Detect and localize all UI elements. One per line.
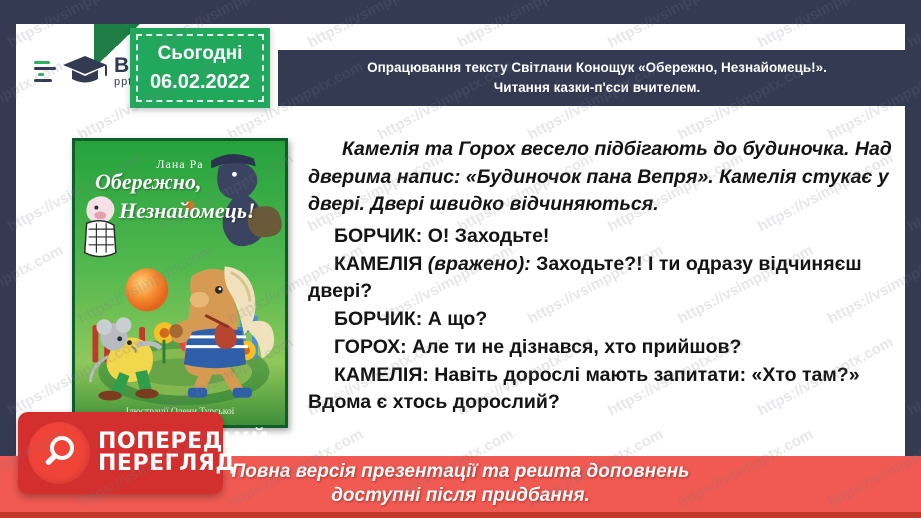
cover-title-line-2: Незнайомець! [89,198,271,223]
slide-title-line-2: Читання казки-п'єси вчителем. [494,78,700,98]
logo-speed-lines-icon [34,61,56,82]
slide-title-line-1: Опрацювання тексту Світлани Конощук «Обе… [367,58,827,78]
magnifier-icon [28,422,90,484]
slide-frame: п с [0,0,921,518]
dialogue-text: А що? [422,308,487,330]
preview-badge[interactable]: ПОПЕРЕДНІЙ ПЕРЕГЛЯД [18,412,223,494]
dialogue-line: КАМЕЛІЯ (вражено): Заходьте?! І ти одраз… [308,251,905,306]
preview-line-1: ПОПЕРЕДНІЙ [98,431,269,453]
dialogue-speaker: КАМЕЛІЯ: [334,364,429,386]
book-cover-image: Лана Ра Обережно, Незнайомець! Ілюстраці… [72,138,288,428]
graduation-cap-icon [62,54,108,88]
dialogue-line: БОРЧИК: А що? [308,306,905,334]
dialogue-stage: (вражено): [422,253,530,275]
preview-line-2: ПЕРЕГЛЯД [98,453,269,475]
badge-date-value: 06.02.2022 [150,71,250,94]
lesson-text-block: Камелія та Горох весело підбігають до бу… [308,136,905,417]
dialogue-text: О! Заходьте! [422,225,549,247]
banner-line-1: Повна версія презентації та решта доповн… [232,460,690,484]
dialogue-text: Але ти не дізнався, хто прийшов? [407,336,742,358]
today-date-badge: Сьогодні 06.02.2022 [130,28,270,108]
stage-direction-intro: Камелія та Горох весело підбігають до бу… [308,136,905,219]
dialogue-speaker: БОРЧИК: [334,225,422,247]
badge-today-label: Сьогодні [158,43,243,65]
slide-title-bar: Опрацювання тексту Світлани Конощук «Обе… [278,50,905,106]
cover-title: Обережно, Незнайомець! [89,169,271,224]
dialogue-line: ГОРОХ: Але ти не дізнався, хто прийшов? [308,334,905,362]
dialogue-speaker: КАМЕЛІЯ [334,253,422,275]
banner-line-2: доступні після придбання. [331,484,590,508]
dialogue-line: БОРЧИК: О! Заходьте! [308,223,905,251]
cover-title-line-1: Обережно, [89,169,271,194]
dialogue-speaker: БОРЧИК: [334,308,422,330]
dialogue-speaker: ГОРОХ: [334,336,407,358]
preview-badge-label: ПОПЕРЕДНІЙ ПЕРЕГЛЯД [98,431,269,476]
dialogue-line: КАМЕЛІЯ: Навіть дорослі мають запитати: … [308,362,905,417]
